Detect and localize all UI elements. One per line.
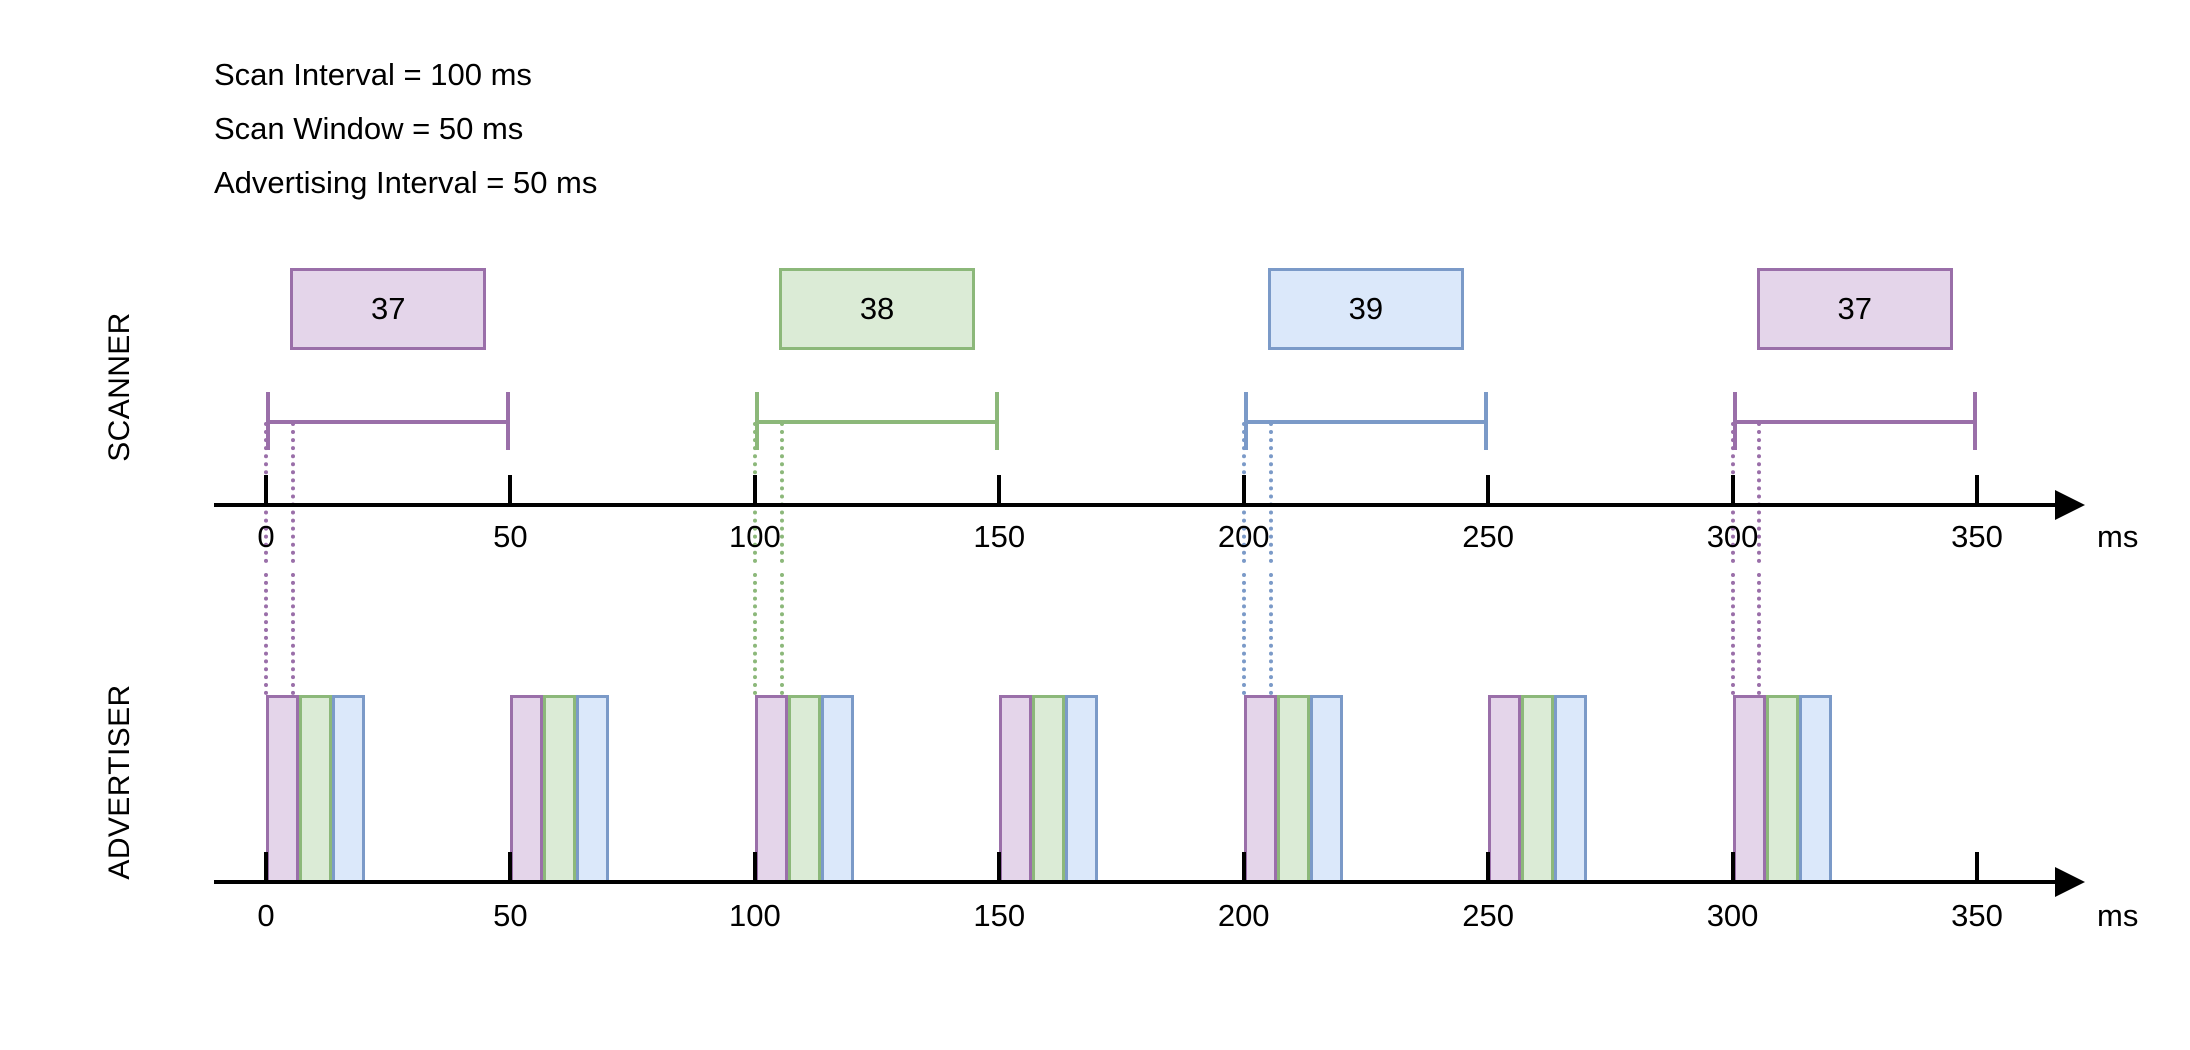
parameters-block: Scan Interval = 100 ms Scan Window = 50 … (214, 48, 597, 210)
bracket-cap-right (506, 392, 510, 450)
advertising-packet-bar (1521, 695, 1554, 884)
advertising-packet-bar (1799, 695, 1832, 884)
guide-line (753, 573, 757, 695)
advertising-packet-bar (266, 695, 299, 884)
scanner-channel-label: 37 (1838, 291, 1872, 327)
guide-line (264, 573, 268, 695)
scanner-axis-tick (508, 475, 512, 505)
advertising-packet-bar (999, 695, 1032, 884)
param-advertising-interval: Advertising Interval = 50 ms (214, 156, 597, 210)
advertiser-axis-tick-label: 100 (695, 898, 815, 934)
advertising-packet-bar (1277, 695, 1310, 884)
scanner-axis-unit-label: ms (2097, 519, 2138, 555)
scanner-axis-tick (753, 475, 757, 505)
guide-line (1731, 573, 1735, 695)
advertising-packet-bar (576, 695, 609, 884)
bracket-cap-right (1973, 392, 1977, 450)
bracket-span-line (266, 420, 510, 424)
advertising-packet-bar (510, 695, 543, 884)
scan-window-bracket (266, 392, 510, 450)
advertiser-axis-tick-label: 350 (1917, 898, 2037, 934)
bracket-cap-left (1733, 392, 1737, 450)
scanner-channel-box: 38 (779, 268, 975, 350)
advertising-packet-bar (543, 695, 576, 884)
advertiser-axis-arrow-icon (2055, 867, 2085, 897)
scanner-channel-box: 37 (290, 268, 486, 350)
advertiser-axis-tick-label: 150 (939, 898, 1059, 934)
scanner-channel-label: 39 (1349, 291, 1383, 327)
advertiser-axis-tick (753, 852, 757, 882)
scanner-channel-label: 37 (371, 291, 405, 327)
scanner-axis-arrow-icon (2055, 490, 2085, 520)
bracket-cap-right (1484, 392, 1488, 450)
guide-line (780, 573, 784, 695)
scan-window-bracket (1244, 392, 1488, 450)
advertising-packet-bar (1244, 695, 1277, 884)
advertiser-axis-tick (1975, 852, 1979, 882)
bracket-span-line (1733, 420, 1977, 424)
advertiser-axis-line (214, 880, 2055, 884)
scanner-axis-tick (264, 475, 268, 505)
guide-line (1269, 573, 1273, 695)
scan-window-bracket (1733, 392, 1977, 450)
advertising-packet-bar (1554, 695, 1587, 884)
bracket-cap-left (1244, 392, 1248, 450)
scan-window-bracket (755, 392, 999, 450)
advertising-packet-bar (1766, 695, 1799, 884)
scanner-axis-tick-label: 150 (939, 519, 1059, 555)
param-scan-window: Scan Window = 50 ms (214, 102, 597, 156)
advertiser-axis-tick (1486, 852, 1490, 882)
guide-line (1242, 573, 1246, 695)
advertising-packet-bar (332, 695, 365, 884)
scanner-axis-tick (1242, 475, 1246, 505)
advertiser-axis-tick (508, 852, 512, 882)
row-label-scanner: SCANNER (103, 247, 137, 527)
scanner-axis-tick-label: 300 (1673, 519, 1793, 555)
scanner-axis-tick-label: 0 (206, 519, 326, 555)
advertising-packet-bar (299, 695, 332, 884)
advertiser-axis-tick (1242, 852, 1246, 882)
advertising-packet-bar (1488, 695, 1521, 884)
advertiser-axis-tick (997, 852, 1001, 882)
scanner-axis-tick-label: 100 (695, 519, 815, 555)
advertiser-axis-tick (264, 852, 268, 882)
advertising-packet-bar (1065, 695, 1098, 884)
scanner-channel-label: 38 (860, 291, 894, 327)
advertising-packet-bar (1733, 695, 1766, 884)
scanner-axis-tick-label: 250 (1428, 519, 1548, 555)
advertising-packet-bar (788, 695, 821, 884)
scanner-axis-tick (1731, 475, 1735, 505)
scanner-axis-tick-label: 50 (450, 519, 570, 555)
advertiser-axis-tick-label: 0 (206, 898, 326, 934)
advertising-packet-bar (755, 695, 788, 884)
advertising-packet-bar (1310, 695, 1343, 884)
advertiser-axis-tick-label: 250 (1428, 898, 1548, 934)
scanner-channel-box: 37 (1757, 268, 1953, 350)
scanner-axis-tick-label: 350 (1917, 519, 2037, 555)
bracket-span-line (1244, 420, 1488, 424)
bracket-cap-left (755, 392, 759, 450)
advertiser-axis-unit-label: ms (2097, 898, 2138, 934)
advertiser-axis-tick (1731, 852, 1735, 882)
advertising-packet-bar (1032, 695, 1065, 884)
advertiser-axis-tick-label: 300 (1673, 898, 1793, 934)
row-label-advertiser: ADVERTISER (103, 617, 137, 947)
scanner-axis-tick (997, 475, 1001, 505)
scanner-axis-tick (1486, 475, 1490, 505)
scanner-channel-box: 39 (1268, 268, 1464, 350)
bracket-cap-left (266, 392, 270, 450)
scanner-axis-tick-label: 200 (1184, 519, 1304, 555)
scanner-axis-line (214, 503, 2055, 507)
scanner-axis-tick (1975, 475, 1979, 505)
advertiser-axis-tick-label: 50 (450, 898, 570, 934)
guide-line (1757, 573, 1761, 695)
advertiser-axis-tick-label: 200 (1184, 898, 1304, 934)
param-scan-interval: Scan Interval = 100 ms (214, 48, 597, 102)
bracket-span-line (755, 420, 999, 424)
bracket-cap-right (995, 392, 999, 450)
guide-line (291, 573, 295, 695)
advertising-packet-bar (821, 695, 854, 884)
timing-diagram: Scan Interval = 100 ms Scan Window = 50 … (0, 0, 2190, 1050)
